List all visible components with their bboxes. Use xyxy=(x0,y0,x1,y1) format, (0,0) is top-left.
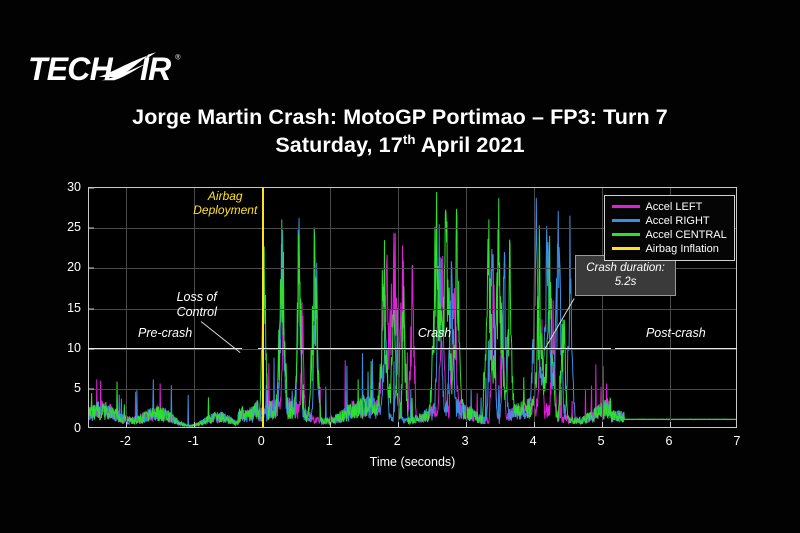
y-axis-tick-label: 0 xyxy=(74,421,88,435)
gridline-vertical xyxy=(466,188,467,427)
x-tick-mark xyxy=(602,422,603,427)
x-axis-tick-label: 5 xyxy=(598,428,605,448)
legend-item-label: Accel CENTRAL xyxy=(645,229,726,241)
chart-legend: Accel LEFTAccel RIGHTAccel CENTRALAirbag… xyxy=(604,195,734,261)
legend-item-accel-left[interactable]: Accel LEFT xyxy=(612,200,726,213)
airbag-deployment-label-line2: Deployment xyxy=(193,203,257,217)
loss-of-control-label: Loss ofControl xyxy=(177,290,217,320)
legend-color-swatch xyxy=(612,219,640,221)
phase-label-pre-crash: Pre-crash xyxy=(138,326,192,340)
legend-item-accel-central[interactable]: Accel CENTRAL xyxy=(612,228,726,241)
x-tick-mark xyxy=(670,422,671,427)
gridline-vertical xyxy=(534,188,535,427)
slide-root: TECH IR ® Jorge Martin Crash: MotoGP Por… xyxy=(0,0,800,533)
x-tick-mark xyxy=(398,422,399,427)
title-line-2: Saturday, 17th April 2021 xyxy=(0,131,800,159)
airbag-deployment-label: AirbagDeployment xyxy=(193,189,257,217)
phase-label-post-crash: Post-crash xyxy=(646,326,706,340)
y-axis-tick-label: 20 xyxy=(67,260,88,274)
phase-rule-crash xyxy=(258,348,611,350)
legend-item-airbag-inflation[interactable]: Airbag Inflation xyxy=(612,242,726,255)
x-axis-tick-label: -1 xyxy=(188,428,199,448)
svg-text:®: ® xyxy=(175,52,181,61)
legend-color-swatch xyxy=(612,205,640,207)
y-axis-tick-label: 5 xyxy=(74,381,88,395)
legend-color-swatch xyxy=(612,233,640,235)
x-tick-mark xyxy=(534,422,535,427)
phase-rule-post-crash xyxy=(615,348,737,350)
svg-text:IR: IR xyxy=(140,51,171,87)
acceleration-chart: Time (seconds) 051015202530-2-101234567A… xyxy=(0,172,800,472)
crash-duration-line2: 5.2s xyxy=(586,275,665,289)
legend-item-label: Airbag Inflation xyxy=(645,243,718,255)
y-axis-tick-label: 10 xyxy=(67,341,88,355)
loss-of-control-label-line2: Control xyxy=(177,305,217,320)
y-axis-tick-label: 15 xyxy=(67,301,88,315)
airbag-inflation-line xyxy=(262,188,264,427)
legend-item-accel-right[interactable]: Accel RIGHT xyxy=(612,214,726,227)
title-date-sup: th xyxy=(403,132,416,147)
x-axis-tick-label: 2 xyxy=(394,428,401,448)
phase-rule-pre-crash xyxy=(88,348,242,350)
title-line-1: Jorge Martin Crash: MotoGP Portimao – FP… xyxy=(0,103,800,131)
gridline-vertical xyxy=(330,188,331,427)
y-axis-tick-label: 30 xyxy=(67,180,88,194)
y-tick-mark xyxy=(89,388,94,389)
gridline-horizontal xyxy=(89,389,736,390)
y-tick-mark xyxy=(89,308,94,309)
title-date-pre: Saturday, 17 xyxy=(275,133,402,157)
y-tick-mark xyxy=(89,188,94,189)
legend-item-label: Accel LEFT xyxy=(645,201,702,213)
svg-text:TECH: TECH xyxy=(28,51,114,87)
x-axis-tick-label: 6 xyxy=(666,428,673,448)
phase-label-crash: Crash xyxy=(418,326,451,340)
x-axis-tick-label: 4 xyxy=(530,428,537,448)
tech-air-logo: TECH IR ® xyxy=(28,48,188,90)
x-tick-mark xyxy=(330,422,331,427)
legend-item-label: Accel RIGHT xyxy=(645,215,709,227)
loss-of-control-label-line1: Loss of xyxy=(177,290,217,305)
gridline-vertical xyxy=(126,188,127,427)
crash-duration-line1: Crash duration: xyxy=(586,261,665,275)
x-axis-tick-label: 1 xyxy=(326,428,333,448)
x-axis-tick-label: -2 xyxy=(120,428,131,448)
y-tick-mark xyxy=(89,228,94,229)
x-axis-tick-label: 0 xyxy=(258,428,265,448)
x-axis-tick-label: 7 xyxy=(734,428,741,448)
slide-title: Jorge Martin Crash: MotoGP Portimao – FP… xyxy=(0,103,800,159)
y-axis-tick-label: 25 xyxy=(67,220,88,234)
x-tick-mark xyxy=(466,422,467,427)
x-axis-tick-label: 3 xyxy=(462,428,469,448)
crash-duration-callout: Crash duration:5.2s xyxy=(575,255,676,296)
y-tick-mark xyxy=(89,268,94,269)
x-tick-mark xyxy=(126,422,127,427)
x-tick-mark xyxy=(194,422,195,427)
title-date-post: April 2021 xyxy=(416,133,525,157)
gridline-vertical xyxy=(398,188,399,427)
x-axis-label: Time (seconds) xyxy=(88,455,737,469)
airbag-deployment-label-line1: Airbag xyxy=(193,189,257,203)
legend-color-swatch xyxy=(612,247,640,249)
gridline-vertical xyxy=(602,188,603,427)
